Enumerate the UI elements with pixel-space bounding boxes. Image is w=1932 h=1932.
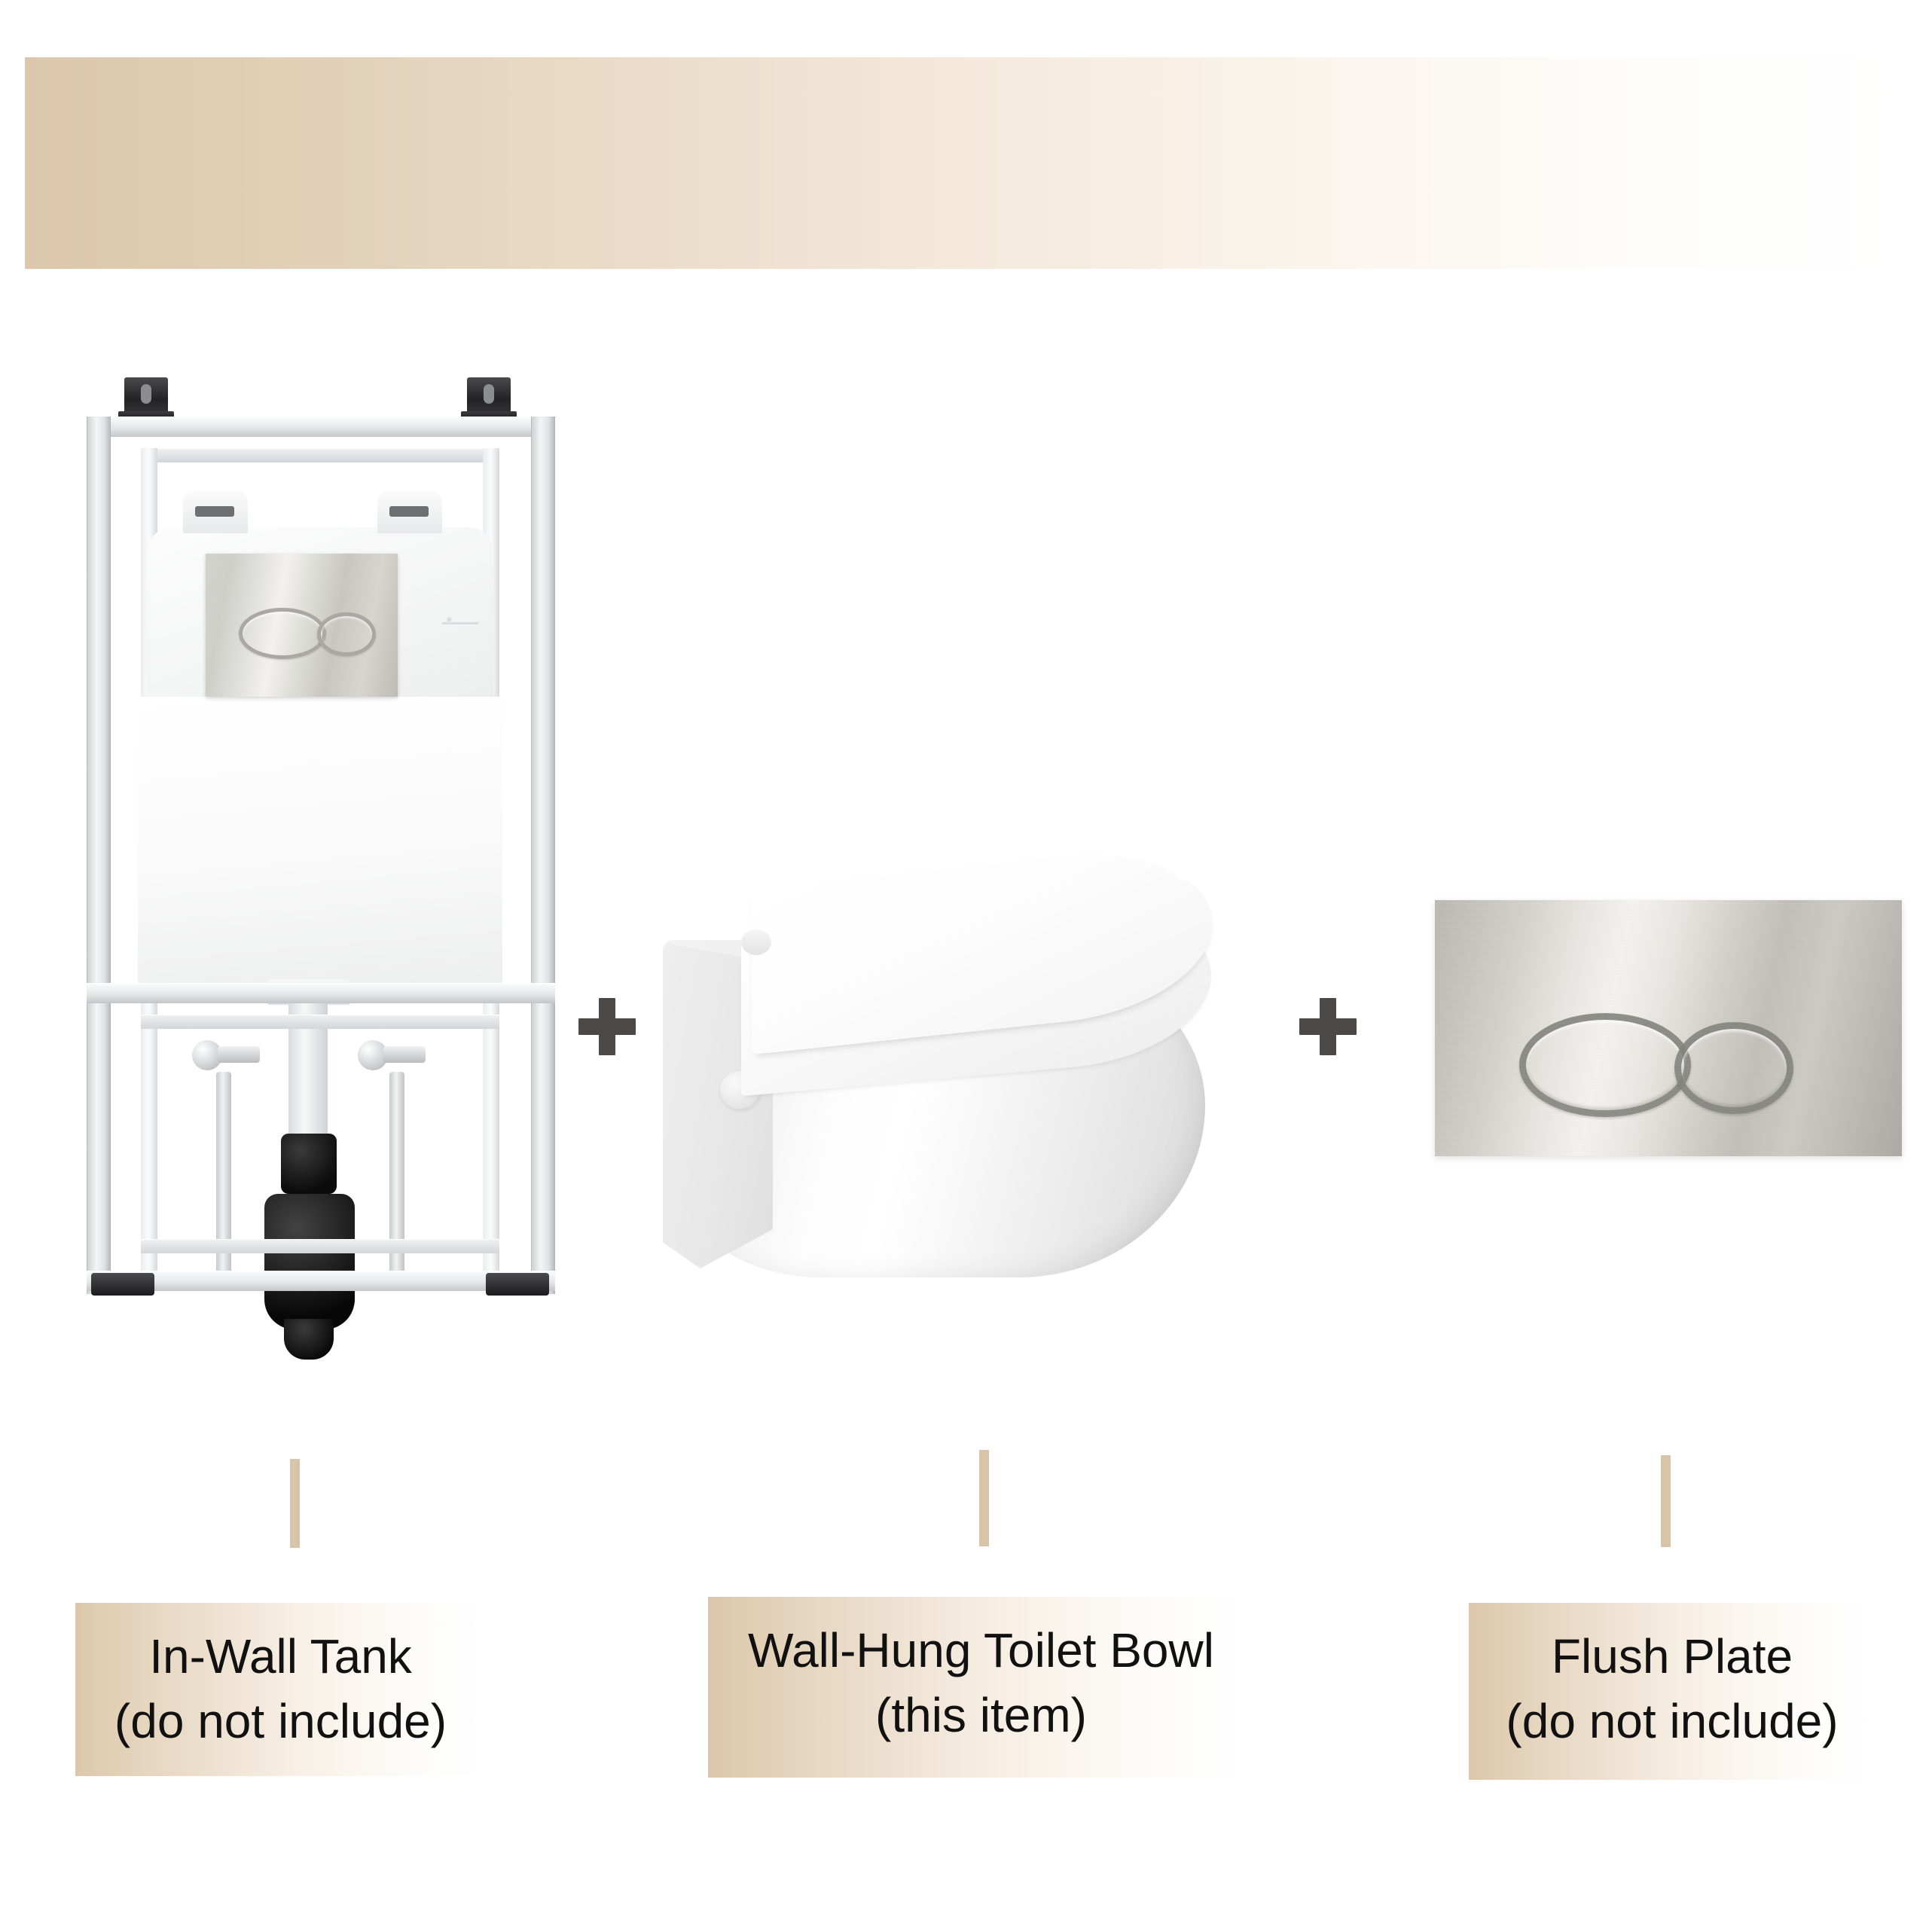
caption-tank-line1: In-Wall Tank [75,1624,486,1689]
cistern-brand-logo-icon [442,615,478,631]
flush-plate-button-half-icon [1674,1022,1793,1114]
connector-tick-bowl [979,1450,989,1546]
caption-plate-line2: (do not include) [1469,1689,1876,1753]
caption-bowl-line2: (this item) [708,1683,1254,1747]
wall-bracket-left-icon [124,377,168,418]
frame-rail-top [87,417,555,437]
frame-rail-top-inner [141,448,499,462]
caption-in-wall-tank: In-Wall Tank (do not include) [75,1603,486,1776]
waste-outlet-elbow [284,1319,334,1360]
wall-hung-toilet-bowl-image [663,844,1235,1311]
tank-mounted-flush-plate-icon [206,554,398,697]
caption-plate-line1: Flush Plate [1469,1624,1876,1689]
cistern-mount-tab-left [183,491,248,533]
frame-upright-right [531,417,555,1294]
page-title: Required Components [90,78,1075,229]
flush-button-half-icon [317,612,376,656]
flush-button-full-icon [239,608,326,659]
flush-plate-button-full-icon [1519,1013,1691,1117]
adjustable-foot-right [486,1273,549,1296]
plus-separator-icon-2 [1299,998,1357,1055]
flush-plate-image [1435,900,1902,1171]
connector-tick-tank [290,1459,300,1548]
in-wall-tank-image [79,373,561,1397]
caption-flush-plate: Flush Plate (do not include) [1469,1603,1876,1780]
toilet-seat-notch [1171,856,1221,884]
waste-outlet-pipe [264,1194,355,1329]
adjustable-foot-left [91,1273,154,1296]
cistern-insulation-panel [138,697,502,1002]
flush-plate-body [1435,900,1902,1156]
frame-rail-middle-inner [141,1015,499,1029]
cistern-mount-tab-right [377,491,442,533]
toilet-seat-hinge-icon [741,929,771,955]
frame-rail-lower-inner [141,1239,499,1253]
waste-outlet-connector-top [281,1134,337,1194]
frame-rail-middle [87,983,555,1003]
plus-separator-icon-1 [578,998,636,1055]
caption-tank-line2: (do not include) [75,1689,486,1753]
caption-bowl-line1: Wall-Hung Toilet Bowl [708,1618,1254,1683]
frame-upright-left [87,417,111,1294]
frame-rail-bottom [87,1271,555,1291]
caption-wall-hung-toilet-bowl: Wall-Hung Toilet Bowl (this item) [708,1597,1254,1778]
connector-tick-plate [1661,1455,1671,1547]
wall-bracket-right-icon [467,377,511,418]
